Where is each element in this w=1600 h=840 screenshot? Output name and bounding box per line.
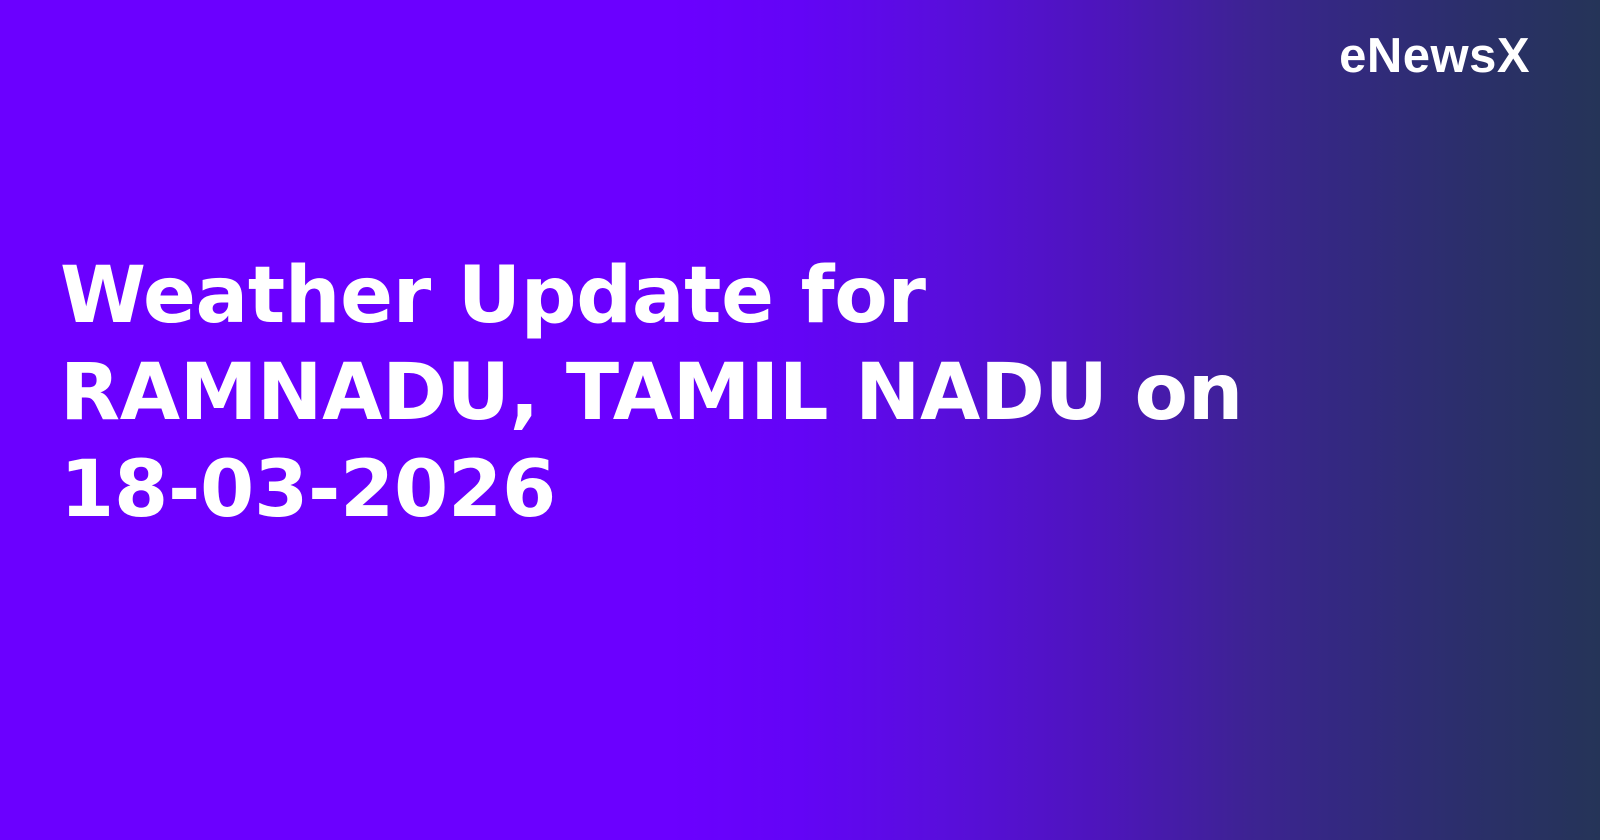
brand-logo[interactable]: eNewsX (1339, 30, 1530, 84)
page-title: Weather Update for RAMNADU, TAMIL NADU o… (60, 248, 1380, 539)
headline-block: Weather Update for RAMNADU, TAMIL NADU o… (60, 248, 1380, 539)
news-card: eNewsX Weather Update for RAMNADU, TAMIL… (0, 0, 1600, 840)
brand-logo-text: eNewsX (1339, 30, 1530, 84)
